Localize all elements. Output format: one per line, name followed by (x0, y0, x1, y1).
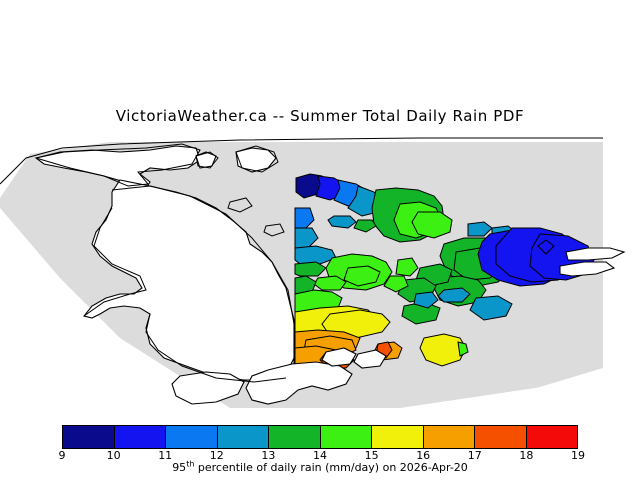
colorbar-segment-18-19 (527, 426, 578, 448)
caption-prefix: 95 (172, 461, 186, 474)
colorbar-segment-10-11 (115, 426, 167, 448)
map-panel (0, 128, 640, 408)
caption-suffix: percentile of daily rain (mm/day) on 202… (194, 461, 467, 474)
colorbar-segments (62, 425, 578, 449)
colorbar-caption: 95th percentile of daily rain (mm/day) o… (0, 461, 640, 474)
map-canvas (0, 128, 640, 408)
colorbar (62, 425, 578, 449)
page-title: VictoriaWeather.ca -- Summer Total Daily… (0, 107, 640, 125)
weather-map-page: VictoriaWeather.ca -- Summer Total Daily… (0, 0, 640, 480)
colorbar-segment-17-18 (475, 426, 527, 448)
colorbar-segment-16-17 (424, 426, 476, 448)
colorbar-segment-11-12 (166, 426, 218, 448)
colorbar-segment-14-15 (321, 426, 373, 448)
colorbar-segment-13-14 (269, 426, 321, 448)
colorbar-segment-15-16 (372, 426, 424, 448)
colorbar-segment-9-10 (63, 426, 115, 448)
colorbar-segment-12-13 (218, 426, 270, 448)
